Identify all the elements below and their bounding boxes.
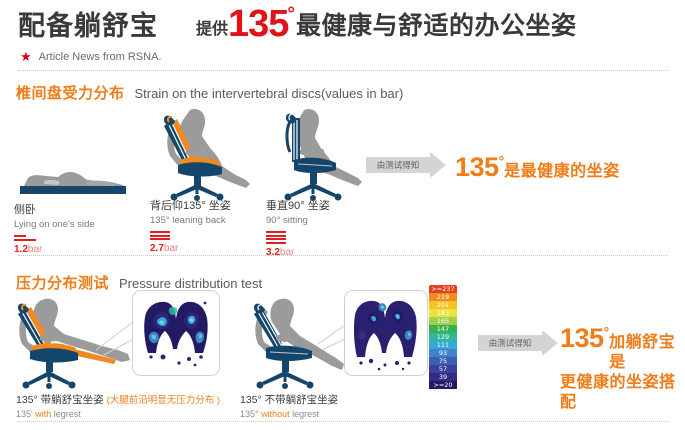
- chair-135-illustration: [150, 102, 260, 202]
- legend-swatch-6: 129: [429, 333, 457, 341]
- legend-swatch-5: 147: [429, 325, 457, 333]
- legend-swatch-8: 93: [429, 349, 457, 357]
- legend-swatch-3: 183: [429, 309, 457, 317]
- pressure-map-2-plot: [345, 291, 427, 375]
- arrow-label: 由测试得知: [366, 157, 430, 173]
- section-1-title-en: Strain on the intervertebral discs(value…: [135, 86, 404, 101]
- pressure-map-with-legrest: [132, 290, 220, 376]
- strain-value-135: 2.7bar: [150, 243, 231, 254]
- strain-bars-135: [150, 231, 231, 240]
- divider-bottom: [18, 421, 668, 422]
- byline-text: Article News from RSNA.: [39, 51, 162, 63]
- header: 配备躺舒宝 提供 135 ° 最健康与舒适的办公坐姿 ★ Article New…: [0, 0, 685, 72]
- conclusion-line-1: 135 ° 加躺舒宝是: [560, 322, 685, 372]
- conclusion-text-line1: 加躺舒宝是: [609, 332, 685, 372]
- caption-en: Lying on one's side: [14, 219, 95, 231]
- headline-degree-symbol: °: [287, 4, 295, 26]
- caption-cn: 垂直90° 坐姿: [266, 200, 330, 214]
- arrow-head-icon: [542, 330, 558, 356]
- figure-lying-on-side: [14, 150, 134, 200]
- pressure-color-scale: >=23721920118316514712911193755739>=20: [429, 285, 457, 389]
- headline-tail: 最健康与舒适的办公坐姿: [296, 6, 577, 42]
- section-1-conclusion-arrow: 由测试得知: [366, 152, 446, 178]
- caption-cn: 背后仰135° 坐姿: [150, 200, 231, 214]
- section-2-conclusion-arrow: 由测试得知: [478, 330, 558, 356]
- strain-bars-lying: [14, 235, 95, 241]
- caption-line-2: 135° without legrest: [240, 409, 338, 419]
- arrow-label: 由测试得知: [478, 335, 542, 351]
- legend-swatch-0: >=237: [429, 285, 457, 293]
- caption-lying-on-side: 侧卧 Lying on one's side 1.2bar: [14, 204, 95, 255]
- caption-leaning-back-135: 背后仰135° 坐姿 135° leaning back 2.7bar: [150, 200, 231, 254]
- figure-leaning-back-135: [150, 102, 260, 202]
- headline-subtitle: 提供 135 ° 最健康与舒适的办公坐姿: [196, 3, 577, 42]
- caption-en: 135° leaning back: [150, 215, 231, 227]
- conclusion-text: 是最健康的坐姿: [504, 157, 620, 181]
- conclusion-text-line2: 更健康的坐姿搭配: [560, 372, 685, 412]
- caption-line-2: 135' with legrest: [16, 409, 220, 419]
- legend-swatch-9: 75: [429, 357, 457, 365]
- chair-90-illustration: [266, 102, 371, 202]
- arrow-head-icon: [430, 152, 446, 178]
- caption-cn: 侧卧: [14, 204, 95, 218]
- section-1-conclusion: 135 ° 是最健康的坐姿: [455, 152, 620, 183]
- caption-line-1: 135° 带躺舒宝坐姿 (大腿前沿明显无压力分布 ): [16, 392, 220, 407]
- conclusion-degree-symbol: °: [499, 153, 505, 169]
- caption-line-1: 135° 不带躺舒宝坐姿: [240, 392, 338, 407]
- legend-swatch-7: 111: [429, 341, 457, 349]
- legend-swatch-2: 201: [429, 301, 457, 309]
- legend-swatch-1: 219: [429, 293, 457, 301]
- arrow-shape: 由测试得知: [478, 330, 558, 356]
- headline-prefix: 提供: [196, 15, 228, 39]
- caption-sitting-90: 垂直90° 坐姿 90° sitting 3.2bar: [266, 200, 330, 258]
- caption-en: 90° sitting: [266, 215, 330, 227]
- section-2-conclusion: 135 ° 加躺舒宝是 更健康的坐姿搭配: [560, 322, 685, 412]
- star-icon: ★: [20, 50, 32, 63]
- legend-swatch-4: 165: [429, 317, 457, 325]
- divider-top: [18, 70, 668, 71]
- legend-swatch-11: 39: [429, 373, 457, 381]
- infographic-page: 配备躺舒宝 提供 135 ° 最健康与舒适的办公坐姿 ★ Article New…: [0, 0, 685, 430]
- section-1-body: 侧卧 Lying on one's side 1.2bar: [0, 100, 685, 250]
- strain-bars-90: [266, 231, 330, 244]
- strain-value-lying: 1.2bar: [14, 244, 95, 255]
- conclusion-angle: 135: [455, 152, 499, 183]
- lying-on-side-illustration: [14, 150, 134, 200]
- byline: ★ Article News from RSNA.: [20, 50, 162, 63]
- conclusion-angle: 135: [560, 322, 604, 356]
- legend-swatch-12: >=20: [429, 381, 457, 389]
- caption-without-legrest: 135° 不带躺舒宝坐姿 135° without legrest: [240, 392, 338, 419]
- pressure-map-without-legrest: [344, 290, 428, 376]
- conclusion-line-2: 更健康的坐姿搭配: [560, 372, 685, 412]
- divider-middle: [18, 255, 668, 256]
- caption-note: (大腿前沿明显无压力分布 ): [107, 395, 220, 406]
- conclusion-degree-symbol: °: [604, 324, 610, 342]
- page-title: 配备躺舒宝: [18, 4, 158, 43]
- arrow-shape: 由测试得知: [366, 152, 446, 178]
- figure-sitting-90: [266, 102, 371, 202]
- legend-swatch-10: 57: [429, 365, 457, 373]
- pressure-map-1-plot: [133, 291, 219, 375]
- caption-with-legrest: 135° 带躺舒宝坐姿 (大腿前沿明显无压力分布 ) 135' with leg…: [16, 392, 220, 419]
- headline-angle-number: 135: [228, 5, 288, 43]
